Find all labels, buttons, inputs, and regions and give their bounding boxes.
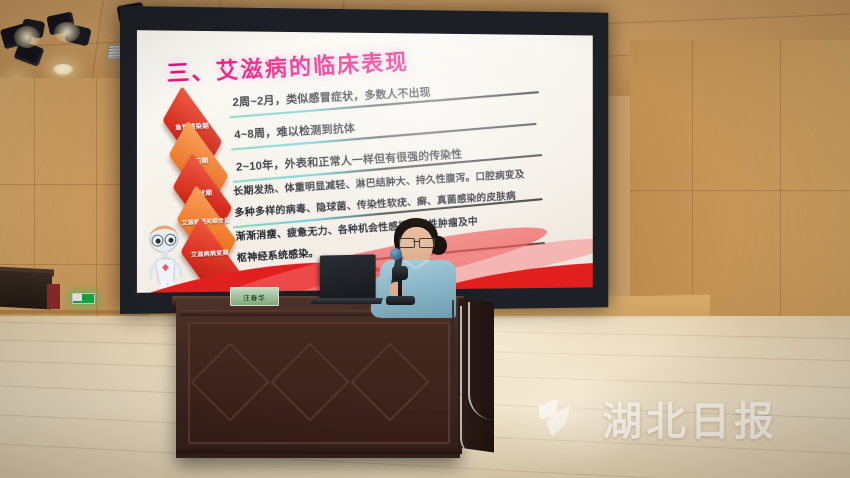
bench-red-box [47,284,60,309]
downlight [52,64,74,76]
laptop-base [311,298,383,304]
slide-body-line: 枢神经系统感染。 [236,244,319,264]
exit-sign [72,293,95,304]
slide-title: 三、艾滋病的临床表现 [166,45,410,89]
podium-carved-diamond [190,342,269,421]
podium-base [176,444,462,454]
watermark-text: 湖北日报 [602,389,778,447]
bench [0,271,52,310]
nameplate-text: 汪春华 [243,292,266,302]
gooseneck-microphone-head [392,266,408,280]
cable [452,300,466,396]
podium-carved-diamond [270,342,349,421]
presentation-slide: 三、艾滋病的临床表现 2周~2月，类似感冒症状，多数人不出现 4~8周，难以检测… [137,30,593,293]
bird-wing-logo-icon [536,397,588,439]
slide-body-line: 2周~2月，类似感冒症状，多数人不出现 [232,84,431,110]
laptop [320,254,376,300]
gooseneck-microphone-base [386,296,415,305]
watermark: 湖北日报 [536,386,832,450]
eyeglasses-icon [399,238,434,246]
podium-carved-diamond [350,342,429,421]
nameplate: 汪春华 [230,287,279,306]
cartoon-doctor-mascot-icon [142,220,187,292]
photo-scene: 三、艾滋病的临床表现 2周~2月，类似感冒症状，多数人不出现 4~8周，难以检测… [0,0,850,478]
podium-front-panel [188,322,450,444]
microphone-head [390,248,402,260]
